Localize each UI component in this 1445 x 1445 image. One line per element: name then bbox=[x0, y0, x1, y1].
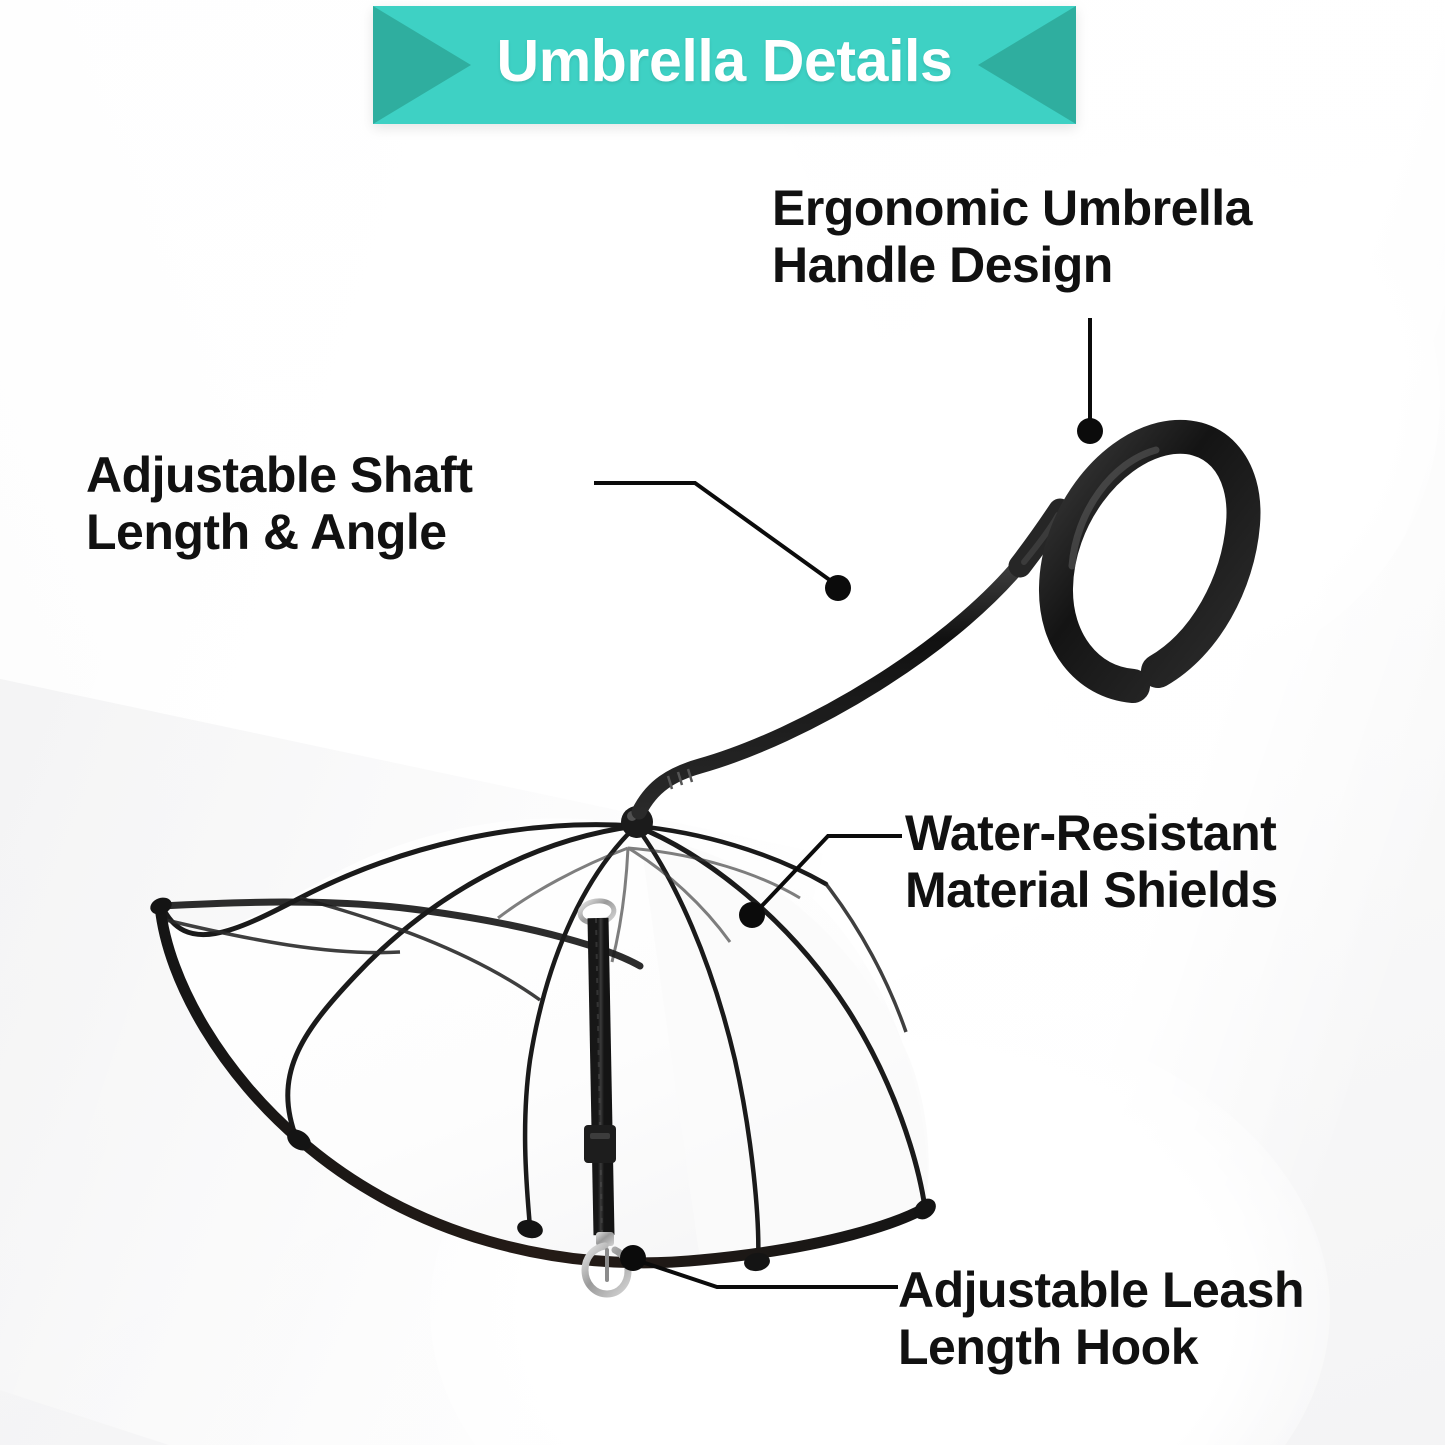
infographic-canvas: Umbrella Details bbox=[0, 0, 1445, 1445]
callout-label-handle: Ergonomic Umbrella Handle Design bbox=[772, 180, 1412, 294]
leader-line-material bbox=[758, 836, 900, 910]
callout-dot-material bbox=[739, 902, 765, 928]
callout-label-shaft: Adjustable Shaft Length & Angle bbox=[86, 447, 646, 561]
callout-dot-shaft bbox=[825, 575, 851, 601]
leader-line-leash bbox=[642, 1262, 896, 1287]
callout-label-material: Water-Resistant Material Shields bbox=[905, 805, 1425, 919]
callout-dot-leash bbox=[620, 1245, 646, 1271]
callout-dot-handle bbox=[1077, 418, 1103, 444]
callout-label-leash: Adjustable Leash Length Hook bbox=[898, 1262, 1438, 1376]
